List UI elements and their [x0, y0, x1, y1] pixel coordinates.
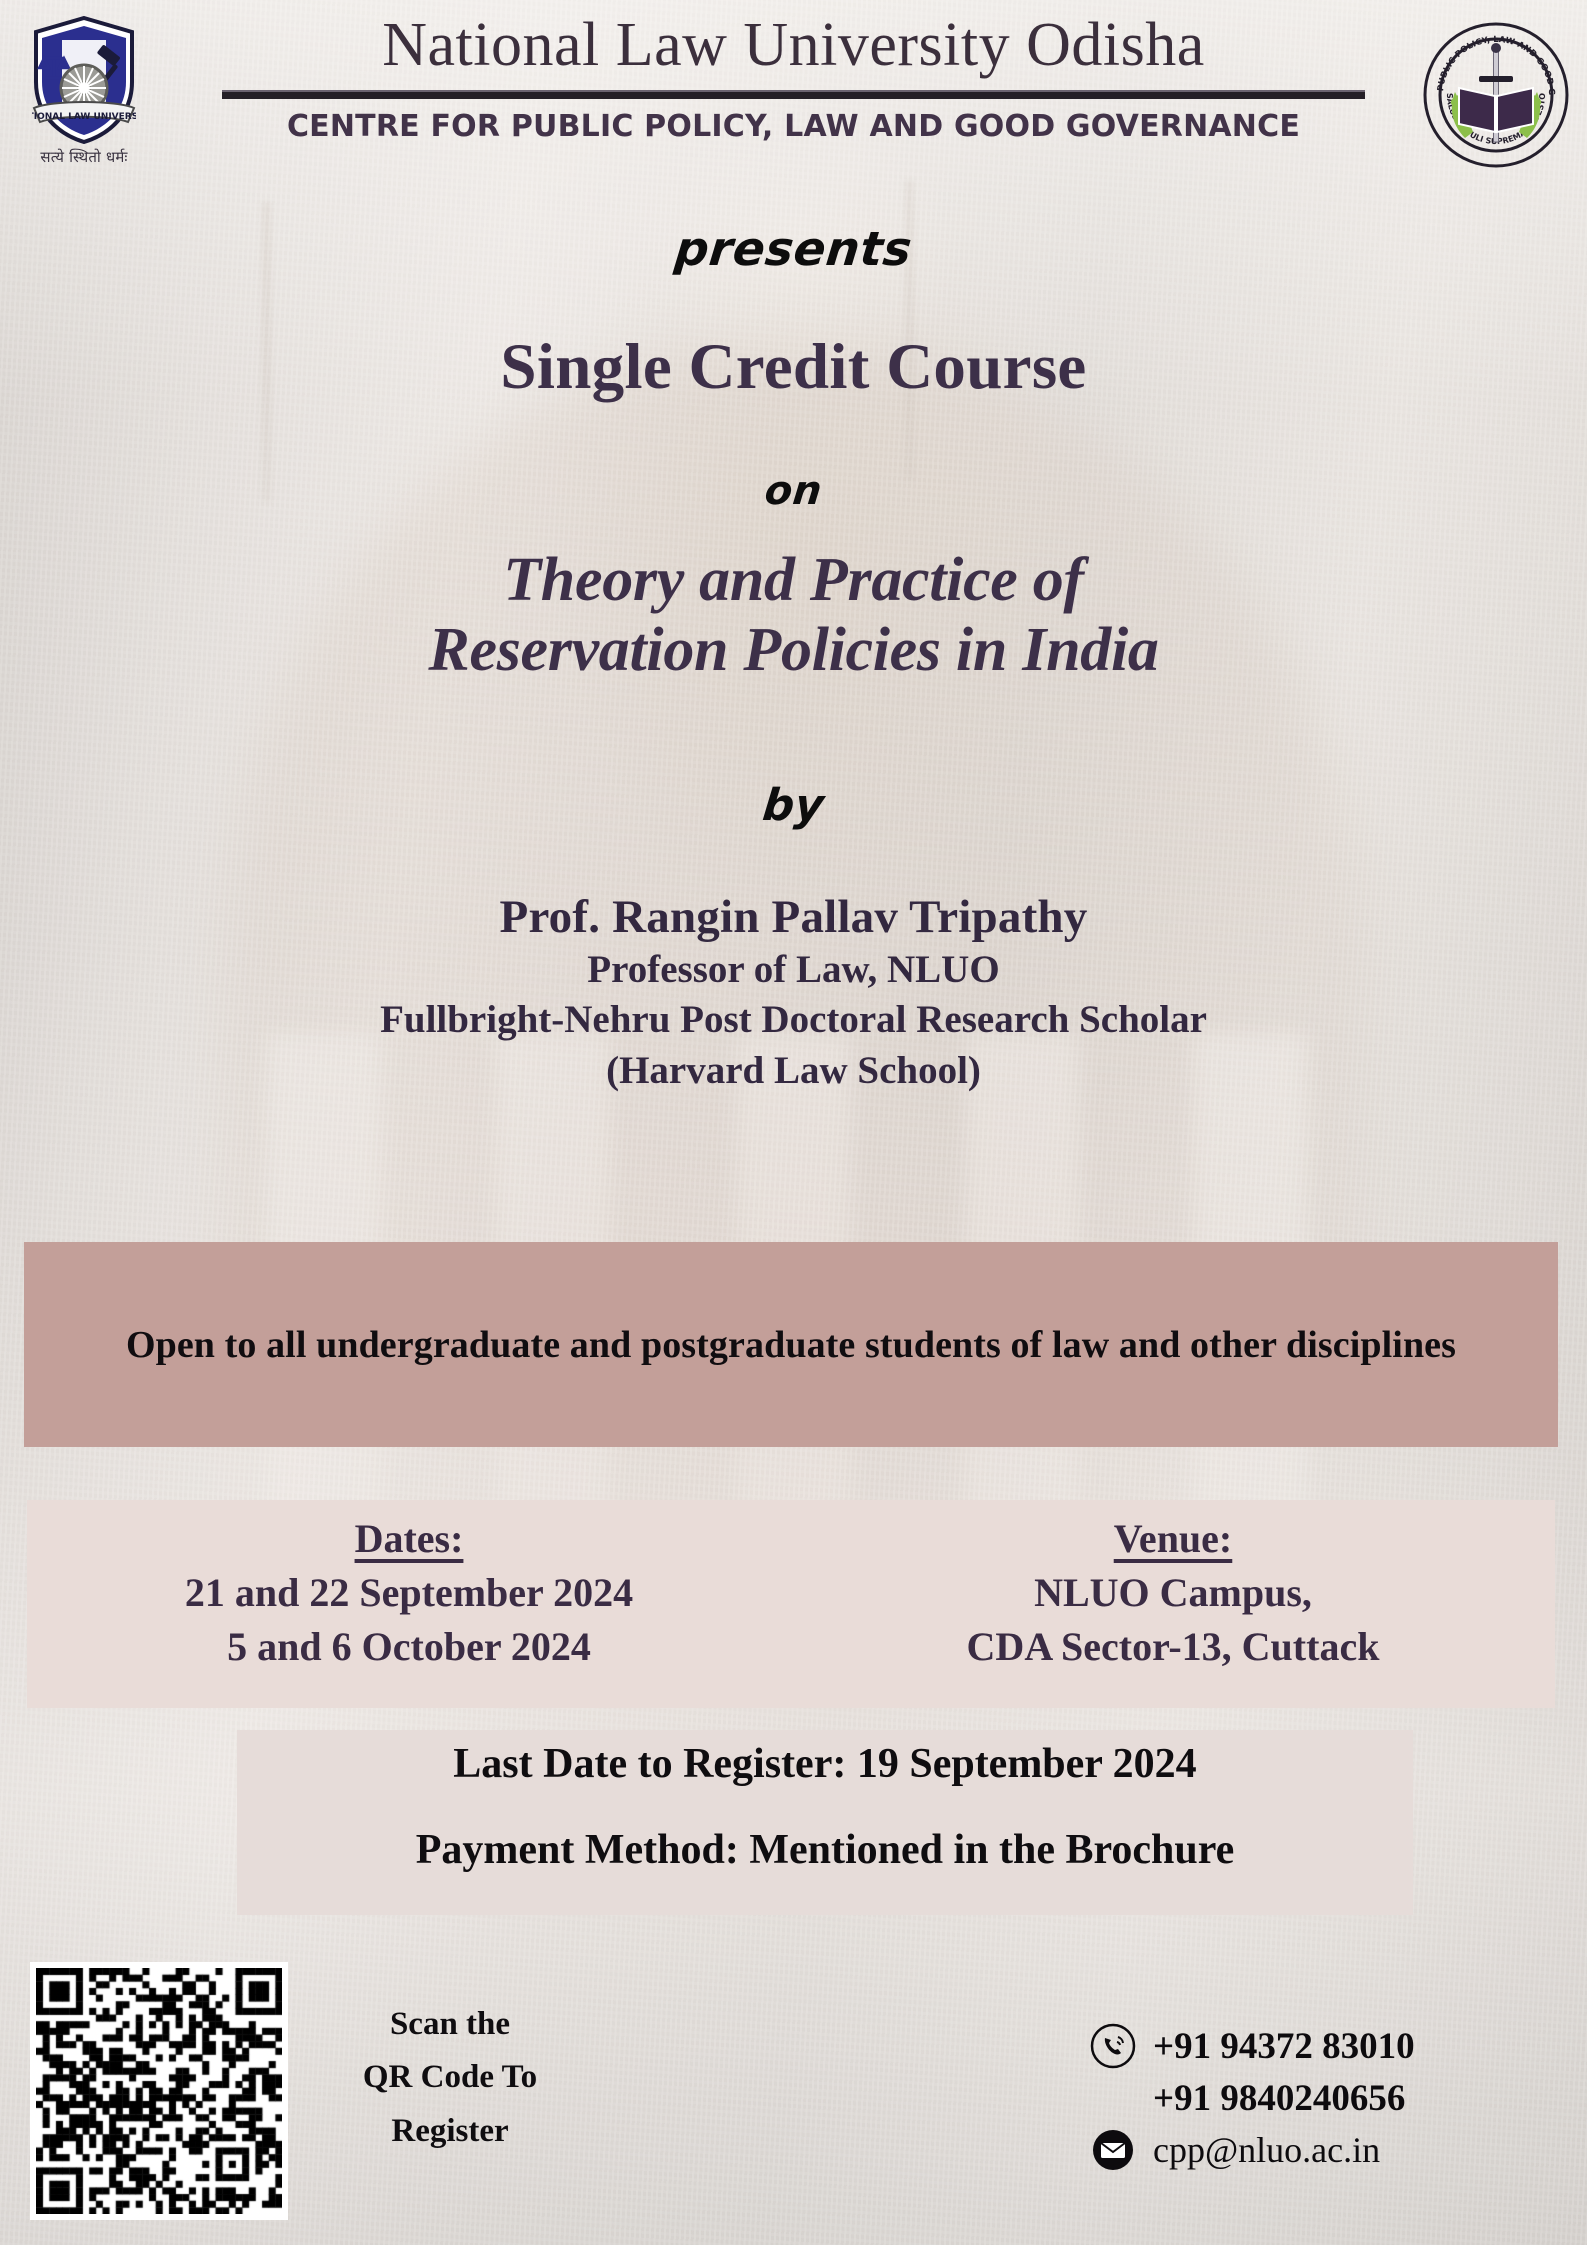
eligibility-banner: Open to all undergraduate and postgradua… — [24, 1242, 1558, 1447]
contact-email-row: cpp@nluo.ac.in — [1087, 2124, 1557, 2176]
nluo-motto: सत्ये स्थितो धर्मः — [14, 147, 154, 167]
qr-caption-line-2: QR Code To — [300, 2051, 600, 2104]
speaker-institution: (Harvard Law School) — [90, 1046, 1497, 1097]
dates-heading: Dates: — [27, 1512, 791, 1566]
venue-line-1: NLUO Campus, — [791, 1566, 1555, 1620]
qr-code-image[interactable] — [36, 1968, 282, 2214]
on-label: on — [0, 468, 1587, 514]
course-title-line-2: Reservation Policies in India — [180, 615, 1407, 685]
svg-text:CENTRE FOR PUBLIC POLICY, LAW: CENTRE FOR PUBLIC POLICY, LAW AND GOOD G… — [1421, 20, 1556, 96]
venue-line-2: CDA Sector-13, Cuttack — [791, 1620, 1555, 1674]
contact-block: +91 94372 83010 +91 9840240656 cpp@nluo.… — [1087, 2020, 1557, 2176]
by-label: by — [0, 780, 1587, 831]
course-title: Theory and Practice of Reservation Polic… — [180, 545, 1407, 685]
phone-icon — [1087, 2023, 1139, 2069]
venue-column: Venue: NLUO Campus, CDA Sector-13, Cutta… — [791, 1500, 1555, 1708]
speaker-name: Prof. Rangin Pallav Tripathy — [90, 890, 1497, 945]
email-icon — [1087, 2127, 1139, 2173]
presents-label: presents — [0, 222, 1587, 277]
poster-header: NATIONAL LAW UNIVERSITY सत्ये स्थितो धर्… — [0, 14, 1587, 204]
phone-number-1[interactable]: +91 94372 83010 — [1139, 2025, 1415, 2068]
university-name: National Law University Odisha — [180, 14, 1407, 78]
contact-phone-1-row: +91 94372 83010 — [1087, 2020, 1557, 2072]
speaker-role: Professor of Law, NLUO — [90, 945, 1497, 996]
contact-phone-2-row: +91 9840240656 — [1087, 2072, 1557, 2124]
cpplgg-seal-icon: CENTRE FOR PUBLIC POLICY, LAW AND GOOD G… — [1421, 20, 1571, 170]
svg-text:NATIONAL LAW UNIVERSITY: NATIONAL LAW UNIVERSITY — [32, 112, 136, 122]
dates-venue-box: Dates: 21 and 22 September 2024 5 and 6 … — [27, 1500, 1555, 1708]
dates-column: Dates: 21 and 22 September 2024 5 and 6 … — [27, 1500, 791, 1708]
speaker-fellowship: Fullbright-Nehru Post Doctoral Research … — [90, 995, 1497, 1046]
centre-name: CENTRE FOR PUBLIC POLICY, LAW AND GOOD G… — [180, 109, 1407, 144]
eligibility-text: Open to all undergraduate and postgradua… — [126, 1323, 1456, 1367]
registration-box: Last Date to Register: 19 September 2024… — [237, 1730, 1413, 1915]
email-address[interactable]: cpp@nluo.ac.in — [1139, 2129, 1380, 2171]
header-divider — [222, 90, 1365, 99]
phone-number-2[interactable]: +91 9840240656 — [1139, 2077, 1405, 2120]
qr-caption: Scan the QR Code To Register — [300, 1998, 600, 2158]
last-date-to-register: Last Date to Register: 19 September 2024 — [237, 1742, 1413, 1786]
venue-heading: Venue: — [791, 1512, 1555, 1566]
dates-line-2: 5 and 6 October 2024 — [27, 1620, 791, 1674]
nluo-logo: NATIONAL LAW UNIVERSITY सत्ये स्थितो धर्… — [14, 16, 154, 191]
course-kind: Single Credit Course — [0, 330, 1587, 405]
poster: NATIONAL LAW UNIVERSITY सत्ये स्थितो धर्… — [0, 0, 1587, 2245]
qr-code[interactable] — [30, 1962, 288, 2220]
cpplgg-logo: CENTRE FOR PUBLIC POLICY, LAW AND GOOD G… — [1421, 20, 1571, 170]
dates-line-1: 21 and 22 September 2024 — [27, 1566, 791, 1620]
speaker-block: Prof. Rangin Pallav Tripathy Professor o… — [90, 890, 1497, 1097]
qr-caption-line-1: Scan the — [300, 1998, 600, 2051]
nluo-shield-icon: NATIONAL LAW UNIVERSITY — [32, 16, 136, 144]
header-title-block: National Law University Odisha CENTRE FO… — [180, 14, 1407, 144]
payment-method: Payment Method: Mentioned in the Brochur… — [237, 1828, 1413, 1872]
qr-caption-line-3: Register — [300, 2105, 600, 2158]
course-title-line-1: Theory and Practice of — [180, 545, 1407, 615]
